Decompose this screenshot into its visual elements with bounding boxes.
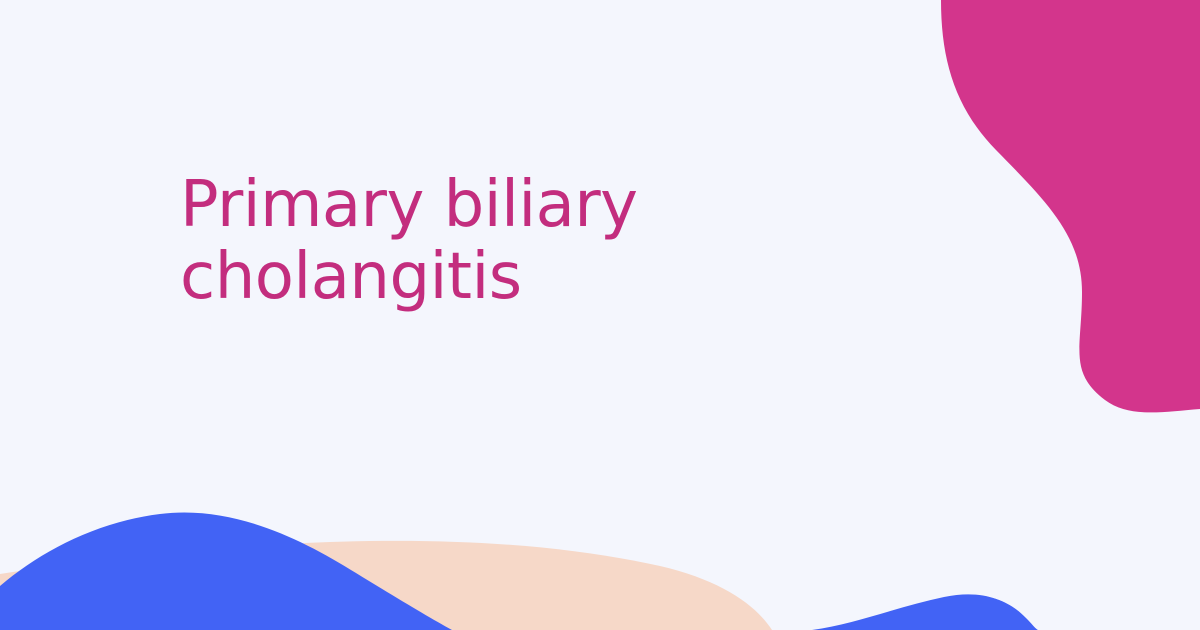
blue-wave-right-body-icon xyxy=(812,594,1038,630)
title-block: Primary biliary cholangitis xyxy=(180,170,820,313)
decorative-blob-layer xyxy=(0,0,1200,630)
blue-wave-right-icon xyxy=(818,595,1037,630)
page-title: Primary biliary cholangitis xyxy=(180,170,820,313)
pink-corner-blob-icon xyxy=(941,0,1200,412)
social-card: Primary biliary cholangitis xyxy=(0,0,1200,630)
blue-wave-left-icon xyxy=(0,513,452,630)
peach-wave-icon xyxy=(0,541,772,630)
